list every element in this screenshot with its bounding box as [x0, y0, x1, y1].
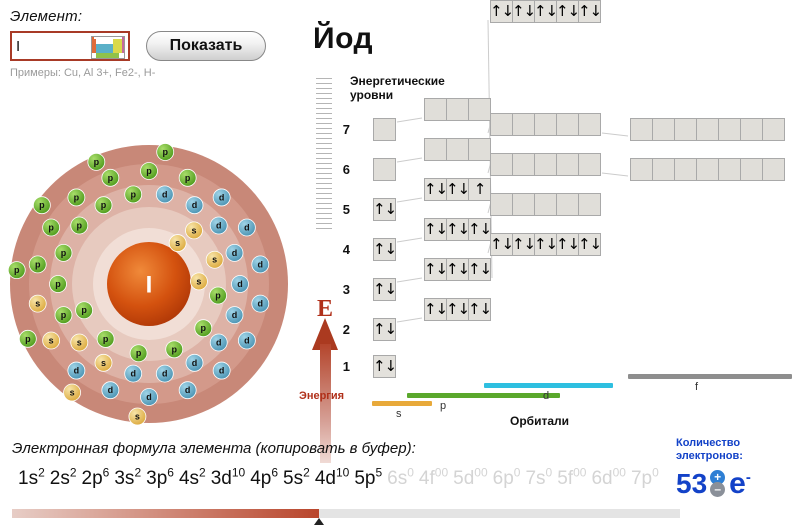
atom-electron-p: p [29, 256, 46, 273]
electron-count-panel: Количество электронов: 53 + – e- [676, 437, 794, 501]
electron-arrows: ↑↓ [374, 239, 395, 260]
legend-bar-d [484, 383, 613, 388]
formula-term: 4f00 [419, 468, 448, 489]
electron-arrows: ↑↓ [447, 219, 468, 240]
atom-electron-d: d [125, 365, 142, 382]
formula-term: 5s2 [283, 468, 310, 489]
formula-term: 7p0 [631, 468, 659, 489]
svg-text:p: p [48, 223, 54, 233]
atom-electron-s: s [190, 273, 207, 290]
atom-electron-d: d [102, 382, 119, 399]
orbital-box [490, 153, 513, 176]
slider-knob[interactable] [314, 518, 324, 525]
slider-fill [12, 509, 319, 518]
atom-electron-s: s [129, 408, 146, 425]
electron-arrows: ↑↓ [425, 299, 446, 320]
svg-text:p: p [146, 166, 152, 176]
svg-text:d: d [130, 369, 136, 379]
electron-arrows: ↑↓ [513, 1, 534, 22]
svg-text:s: s [101, 358, 106, 368]
orbital-box [512, 193, 535, 216]
atom-electron-p: p [166, 341, 183, 358]
atom-electron-p: p [55, 307, 72, 324]
atom-electron-d: d [156, 186, 173, 203]
orbital-box: ↑↓ [468, 298, 491, 321]
orbital-group-4d: ↑↓↑↓↑↓↑↓↑↓ [490, 233, 601, 256]
orbital-box [630, 158, 653, 181]
energy-level-number: 1 [336, 359, 350, 374]
atom-electron-s: s [64, 384, 81, 401]
legend-label-f: f [695, 381, 698, 393]
legend-label-d: d [543, 390, 549, 402]
electron-arrows: ↑↓ [469, 299, 490, 320]
formula-term: 7s0 [525, 468, 552, 489]
atom-electron-d: d [232, 276, 249, 293]
svg-text:s: s [212, 255, 217, 265]
orbital-group-5d [490, 193, 601, 216]
orbital-box [534, 113, 557, 136]
orbital-box [490, 113, 513, 136]
orbital-box [534, 153, 557, 176]
orbital-box [468, 98, 491, 121]
svg-text:d: d [258, 299, 264, 309]
atom-electron-s: s [43, 332, 60, 349]
orbital-box [373, 158, 396, 181]
svg-text:p: p [25, 334, 31, 344]
electron-arrows: ↑↓ [447, 259, 468, 280]
orbital-box [578, 113, 601, 136]
formula-term: 3s2 [114, 468, 141, 489]
atom-electron-p: p [43, 219, 60, 236]
formula-term: 5p5 [354, 468, 382, 489]
orbital-box: ↑↓ [534, 233, 557, 256]
formula-caption: Электронная формула элемента (копировать… [12, 440, 416, 457]
svg-text:p: p [77, 221, 83, 231]
atom-electron-d: d [141, 389, 158, 406]
formula-term: 3p6 [146, 468, 174, 489]
atom-electron-p: p [50, 276, 67, 293]
electron-arrows: ↑↓ [374, 319, 395, 340]
orbital-box: ↑↓ [446, 178, 469, 201]
atom-shell-diagram: Issssppppppssppppppddddddddddssppppppddd… [8, 142, 293, 427]
formula-term: 5d00 [453, 468, 488, 489]
atom-electron-d: d [238, 332, 255, 349]
orbital-box [556, 113, 579, 136]
svg-text:p: p [162, 147, 168, 157]
orbital-box: ↑↓ [490, 233, 513, 256]
atom-electron-s: s [206, 251, 223, 268]
orbital-box: ↑↓ [424, 258, 447, 281]
atom-electron-p: p [125, 186, 142, 203]
orbital-box: ↑↓ [512, 233, 535, 256]
svg-text:p: p [185, 173, 191, 183]
orbital-box [534, 193, 557, 216]
electron-arrows: ↑↓ [469, 259, 490, 280]
atom-electron-p: p [8, 262, 25, 279]
atom-electron-p: p [88, 153, 105, 170]
atom-electron-s: s [95, 354, 112, 371]
formula-term: 4s2 [179, 468, 206, 489]
svg-text:d: d [192, 200, 198, 210]
svg-text:d: d [244, 336, 250, 346]
atom-electron-s: s [185, 222, 202, 239]
orbital-box: ↑↓ [373, 278, 396, 301]
atom-electron-p: p [130, 345, 147, 362]
electron-arrows: ↑↓ [579, 234, 600, 255]
electron-symbol: e- [729, 467, 751, 501]
atom-electron-p: p [55, 244, 72, 261]
atom-electron-p: p [141, 163, 158, 180]
svg-text:d: d [146, 392, 152, 402]
atom-electron-p: p [195, 320, 212, 337]
orbital-box [630, 118, 653, 141]
atom-electron-d: d [186, 197, 203, 214]
electron-arrows: ↑↓ [425, 179, 446, 200]
orbital-group-3s: ↑↓ [373, 278, 396, 301]
atom-electron-d: d [68, 362, 85, 379]
atom-electron-d: d [179, 382, 196, 399]
orbital-box: ↑↓ [578, 0, 601, 23]
atom-electron-p: p [33, 197, 50, 214]
orbital-box: ↑ [468, 178, 491, 201]
svg-text:p: p [201, 323, 207, 333]
svg-text:p: p [103, 334, 109, 344]
svg-text:p: p [108, 173, 114, 183]
svg-text:s: s [175, 238, 180, 248]
svg-text:d: d [185, 385, 191, 395]
svg-text:d: d [244, 223, 250, 233]
formula-term: 3d10 [211, 468, 246, 489]
svg-text:p: p [171, 344, 177, 354]
formula-term: 4d10 [315, 468, 350, 489]
orbital-box: ↑↓ [446, 218, 469, 241]
svg-text:d: d [232, 248, 238, 258]
orbital-group-6s [373, 158, 396, 181]
orbital-box [424, 138, 447, 161]
orbital-group-2p: ↑↓↑↓↑↓ [424, 298, 491, 321]
electron-count-value: 53 [676, 468, 707, 500]
orbital-box: ↑↓ [373, 198, 396, 221]
atom-electron-p: p [71, 217, 88, 234]
formula-term: 2p6 [82, 468, 110, 489]
formula-term: 6p0 [493, 468, 521, 489]
orbital-box: ↑↓ [424, 218, 447, 241]
electron-formula[interactable]: 1s22s22p63s23p64s23d104p65s24d105p56s04f… [18, 466, 664, 490]
svg-text:d: d [237, 279, 243, 289]
orbital-group-4s: ↑↓ [373, 238, 396, 261]
svg-text:d: d [219, 192, 225, 202]
orbital-box: ↑↓ [373, 355, 396, 378]
svg-text:d: d [232, 310, 238, 320]
svg-text:d: d [258, 259, 264, 269]
energy-level-number: 7 [336, 122, 350, 137]
atom-electron-s: s [29, 295, 46, 312]
atom-electron-d: d [252, 256, 269, 273]
orbital-box [556, 193, 579, 216]
orbital-group-6p [424, 138, 491, 161]
orbital-box [652, 118, 675, 141]
svg-text:d: d [74, 366, 80, 376]
orbital-box [674, 118, 697, 141]
svg-text:d: d [216, 337, 222, 347]
svg-text:p: p [215, 290, 221, 300]
electron-arrows: ↑↓ [579, 1, 600, 22]
atom-electron-d: d [252, 295, 269, 312]
formula-term: 1s2 [18, 468, 45, 489]
energy-level-number: 6 [336, 162, 350, 177]
legend-bar-s [372, 401, 432, 406]
orbital-group-3p: ↑↓↑↓↑↓ [424, 258, 491, 281]
atom-electron-d: d [186, 354, 203, 371]
svg-text:p: p [61, 310, 67, 320]
orbital-box: ↑↓ [468, 258, 491, 281]
atom-electron-p: p [157, 143, 174, 160]
svg-text:d: d [192, 358, 198, 368]
orbital-box [674, 158, 697, 181]
atom-electron-d: d [213, 362, 230, 379]
atom-electron-p: p [19, 330, 36, 347]
orbital-box [490, 193, 513, 216]
orbital-group-7f [630, 118, 785, 141]
orbital-box [718, 158, 741, 181]
legend-label-s: s [396, 408, 402, 420]
orbital-box [578, 193, 601, 216]
orbital-box [446, 138, 469, 161]
svg-text:d: d [108, 385, 114, 395]
legend-bar-f [628, 374, 792, 379]
electron-arrows: ↑↓ [491, 1, 512, 22]
orbital-box [556, 153, 579, 176]
svg-text:p: p [14, 265, 20, 275]
svg-text:p: p [101, 200, 107, 210]
bottom-progress-slider[interactable] [12, 509, 680, 518]
svg-text:d: d [162, 369, 168, 379]
orbital-box: ↑↓ [424, 298, 447, 321]
svg-text:d: d [219, 366, 225, 376]
atom-electron-d: d [210, 334, 227, 351]
legend-label-p: p [440, 400, 446, 412]
svg-text:p: p [61, 248, 67, 258]
orbital-box [762, 118, 785, 141]
svg-text:p: p [39, 200, 45, 210]
atom-electron-p: p [210, 287, 227, 304]
orbital-group-2s: ↑↓ [373, 318, 396, 341]
atom-electron-p: p [179, 169, 196, 186]
orbital-box [696, 118, 719, 141]
orbital-box [373, 118, 396, 141]
orbital-box: ↑↓ [373, 318, 396, 341]
formula-term: 2s2 [50, 468, 77, 489]
minus-icon[interactable]: – [710, 482, 725, 497]
atom-electron-d: d [226, 244, 243, 261]
orbital-box: ↑↓ [534, 0, 557, 23]
orbital-box: ↑↓ [446, 298, 469, 321]
energy-level-number: 2 [336, 322, 350, 337]
charge-toggle-icon[interactable]: + – [710, 469, 730, 499]
electron-count-label: Количество электронов: [676, 437, 794, 463]
formula-term: 5f00 [557, 468, 586, 489]
orbital-box [740, 118, 763, 141]
svg-text:d: d [216, 221, 222, 231]
orbital-group-6d [490, 153, 601, 176]
orbital-box: ↑↓ [512, 0, 535, 23]
electron-arrows: ↑↓ [491, 234, 512, 255]
orbital-box: ↑↓ [556, 233, 579, 256]
svg-text:p: p [81, 305, 87, 315]
orbital-box [696, 158, 719, 181]
svg-text:s: s [196, 276, 201, 286]
atom-electron-p: p [68, 189, 85, 206]
orbital-box: ↑↓ [446, 258, 469, 281]
atom-electron-p: p [95, 197, 112, 214]
orbital-box [718, 118, 741, 141]
orbital-group-4p: ↑↓↑↓↑↓ [424, 218, 491, 241]
atom-electron-d: d [238, 219, 255, 236]
svg-text:p: p [130, 189, 136, 199]
electron-arrows: ↑↓ [447, 179, 468, 200]
atom-svg: Issssppppppssppppppddddddddddssppppppddd… [8, 142, 293, 427]
orbital-box: ↑↓ [373, 238, 396, 261]
electron-arrows: ↑↓ [557, 234, 578, 255]
orbital-box [446, 98, 469, 121]
orbital-box [578, 153, 601, 176]
svg-text:p: p [136, 348, 142, 358]
electron-arrows: ↑↓ [425, 219, 446, 240]
orbital-group-5s: ↑↓ [373, 198, 396, 221]
orbital-group-1s: ↑↓ [373, 355, 396, 378]
orbital-box [740, 158, 763, 181]
orbital-group-5p: ↑↓↑↓↑ [424, 178, 491, 201]
orbital-box: ↑↓ [468, 218, 491, 241]
atom-electron-s: s [71, 334, 88, 351]
orbital-box [468, 138, 491, 161]
atom-electron-s: s [169, 235, 186, 252]
electron-count-label-line2: электронов: [676, 450, 743, 462]
electron-arrows: ↑↓ [557, 1, 578, 22]
atom-electron-d: d [226, 307, 243, 324]
orbital-box [762, 158, 785, 181]
orbital-box: ↑↓ [578, 233, 601, 256]
electron-arrows: ↑↓ [535, 234, 556, 255]
electron-arrows: ↑↓ [374, 199, 395, 220]
atom-electron-p: p [76, 302, 93, 319]
orbital-group-3d: ↑↓↑↓↑↓↑↓↑↓ [490, 0, 601, 23]
orbital-group-7p [424, 98, 491, 121]
orbital-group-6f [630, 158, 785, 181]
orbital-group-7s [373, 118, 396, 141]
formula-term: 6s0 [387, 468, 414, 489]
svg-text:s: s [77, 337, 82, 347]
atom-electron-p: p [97, 330, 114, 347]
atom-electron-d: d [210, 217, 227, 234]
formula-term: 4p6 [250, 468, 278, 489]
electron-arrows: ↑↓ [513, 234, 534, 255]
svg-text:d: d [162, 189, 168, 199]
formula-term: 6d00 [591, 468, 626, 489]
atom-electron-p: p [102, 169, 119, 186]
energy-level-number: 5 [336, 202, 350, 217]
orbital-box [512, 113, 535, 136]
orbital-box [652, 158, 675, 181]
svg-text:p: p [94, 157, 100, 167]
electron-arrows: ↑↓ [447, 299, 468, 320]
orbital-box [424, 98, 447, 121]
energy-level-number: 4 [336, 242, 350, 257]
svg-text:s: s [135, 411, 140, 421]
atom-electron-d: d [156, 365, 173, 382]
electron-arrows: ↑↓ [535, 1, 556, 22]
energy-level-number: 3 [336, 282, 350, 297]
atom-electron-d: d [213, 189, 230, 206]
svg-text:s: s [191, 225, 196, 235]
orbitals-caption: Орбитали [510, 414, 569, 428]
electron-arrows: ↑↓ [469, 219, 490, 240]
electron-count-label-line1: Количество [676, 437, 740, 449]
orbital-box [512, 153, 535, 176]
electron-arrows: ↑ [469, 179, 490, 200]
legend-bar-p [407, 393, 560, 398]
electron-arrows: ↑↓ [374, 356, 395, 377]
svg-text:p: p [55, 279, 61, 289]
electron-count-row: 53 + – e- [676, 467, 794, 501]
svg-text:p: p [35, 259, 41, 269]
svg-text:p: p [74, 192, 80, 202]
nucleus-symbol: I [146, 272, 153, 299]
svg-text:s: s [70, 388, 75, 398]
electron-arrows: ↑↓ [374, 279, 395, 300]
electron-arrows: ↑↓ [425, 259, 446, 280]
svg-text:s: s [49, 336, 54, 346]
orbital-box: ↑↓ [490, 0, 513, 23]
orbital-group-7d [490, 113, 601, 136]
orbital-box: ↑↓ [556, 0, 579, 23]
svg-text:s: s [35, 299, 40, 309]
orbital-box: ↑↓ [424, 178, 447, 201]
